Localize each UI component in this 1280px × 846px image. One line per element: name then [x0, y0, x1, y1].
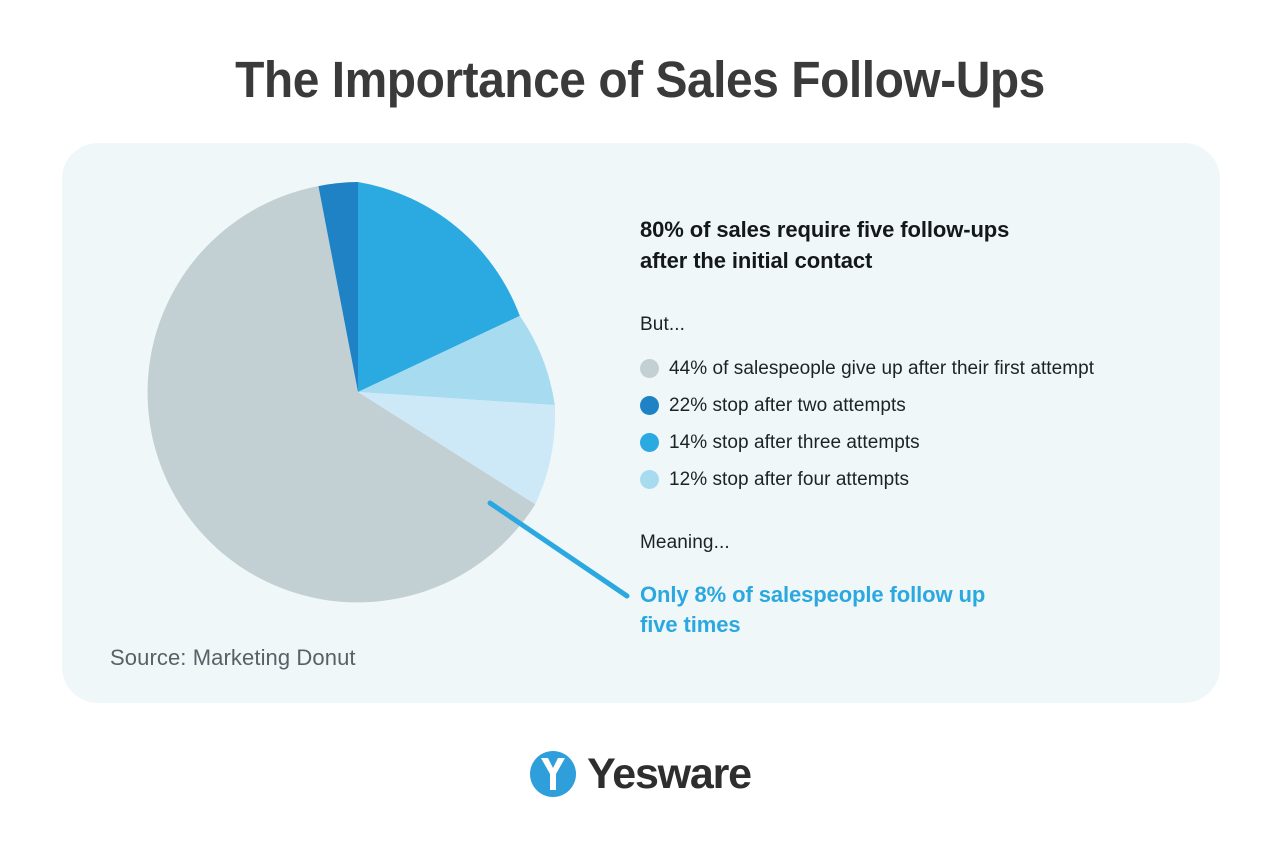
legend-label-12: 12% stop after four attempts: [669, 469, 909, 491]
legend-swatch-light-blue-icon: [640, 470, 659, 489]
legend-swatch-dark-blue-icon: [640, 396, 659, 415]
brand-logo: Yesware: [0, 750, 1280, 798]
chart-legend-column: 80% of sales require five follow-ups aft…: [640, 214, 1200, 640]
headline-line-1: 80% of sales require five follow-ups: [640, 214, 1200, 245]
legend-label-22: 22% stop after two attempts: [669, 395, 906, 417]
legend-item-12: 12% stop after four attempts: [640, 461, 1200, 498]
source-attribution: Source: Marketing Donut: [110, 645, 356, 671]
legend-item-44: 44% of salespeople give up after their f…: [640, 350, 1200, 387]
legend-label-14: 14% stop after three attempts: [669, 432, 920, 454]
headline-line-2: after the initial contact: [640, 245, 1200, 276]
headline-statement: 80% of sales require five follow-ups aft…: [640, 214, 1200, 276]
legend-swatch-medium-blue-icon: [640, 433, 659, 452]
infographic-page: The Importance of Sales Follow-Ups Sourc…: [0, 0, 1280, 846]
page-title: The Importance of Sales Follow-Ups: [38, 50, 1241, 109]
yesware-y-logo-icon: [529, 750, 577, 798]
brand-logo-text: Yesware: [587, 750, 751, 798]
pie-chart: [148, 182, 568, 602]
callout-statement: Only 8% of salespeople follow up five ti…: [640, 580, 1200, 640]
legend-label-44: 44% of salespeople give up after their f…: [669, 358, 1094, 380]
legend-swatch-gray-icon: [640, 359, 659, 378]
but-label: But...: [640, 314, 1200, 336]
legend-item-22: 22% stop after two attempts: [640, 387, 1200, 424]
callout-line-1: Only 8% of salespeople follow up: [640, 580, 1200, 610]
legend-list: 44% of salespeople give up after their f…: [640, 350, 1200, 498]
legend-item-14: 14% stop after three attempts: [640, 424, 1200, 461]
callout-line-2: five times: [640, 610, 1200, 640]
meaning-label: Meaning...: [640, 532, 1200, 554]
